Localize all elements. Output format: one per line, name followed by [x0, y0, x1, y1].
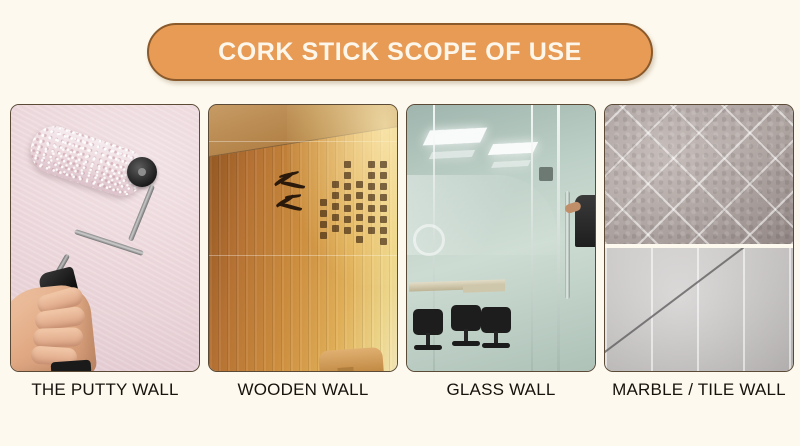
frosted-logo-decal [413, 223, 533, 257]
bamboo-leaf-motif-icon [271, 171, 309, 219]
marble-tile-wall-image [605, 105, 793, 371]
page-title: CORK STICK SCOPE OF USE [218, 38, 582, 67]
glass-door-fitting [539, 167, 553, 181]
paint-roller-end-cap-icon [127, 157, 157, 187]
wooden-chair-back [318, 347, 384, 371]
office-desk [463, 284, 505, 292]
caption-glass-wall: GLASS WALL [406, 380, 596, 410]
wooden-wall-image [209, 105, 397, 371]
office-chair-icon [413, 309, 443, 335]
diamond-tile-surface [605, 105, 793, 244]
title-banner: CORK STICK SCOPE OF USE [147, 23, 653, 81]
office-chair-icon [451, 305, 481, 331]
finger-icon [33, 327, 84, 348]
person-silhouette-icon [575, 195, 595, 247]
marble-panel-surface [605, 248, 793, 371]
banner-container: CORK STICK SCOPE OF USE [0, 22, 800, 82]
wrist-cuff-icon [51, 360, 92, 371]
caption-row: THE PUTTY WALL WOODEN WALL GLASS WALL MA… [10, 380, 794, 410]
panel-row [10, 104, 794, 372]
caption-putty-wall: THE PUTTY WALL [10, 380, 200, 410]
panel-marble-tile-wall[interactable] [604, 104, 794, 372]
putty-wall-image [11, 105, 199, 371]
office-chair-icon [481, 307, 511, 333]
panel-wooden-wall[interactable] [208, 104, 398, 372]
wall-calligraphy-decal [311, 159, 387, 263]
panel-putty-wall[interactable] [10, 104, 200, 372]
glass-panel-joint [557, 105, 560, 371]
frosted-ring-icon [413, 224, 445, 256]
glass-wall-image [407, 105, 595, 371]
caption-wooden-wall: WOODEN WALL [208, 380, 398, 410]
caption-marble-tile-wall: MARBLE / TILE WALL [604, 380, 794, 410]
panel-glass-wall[interactable] [406, 104, 596, 372]
